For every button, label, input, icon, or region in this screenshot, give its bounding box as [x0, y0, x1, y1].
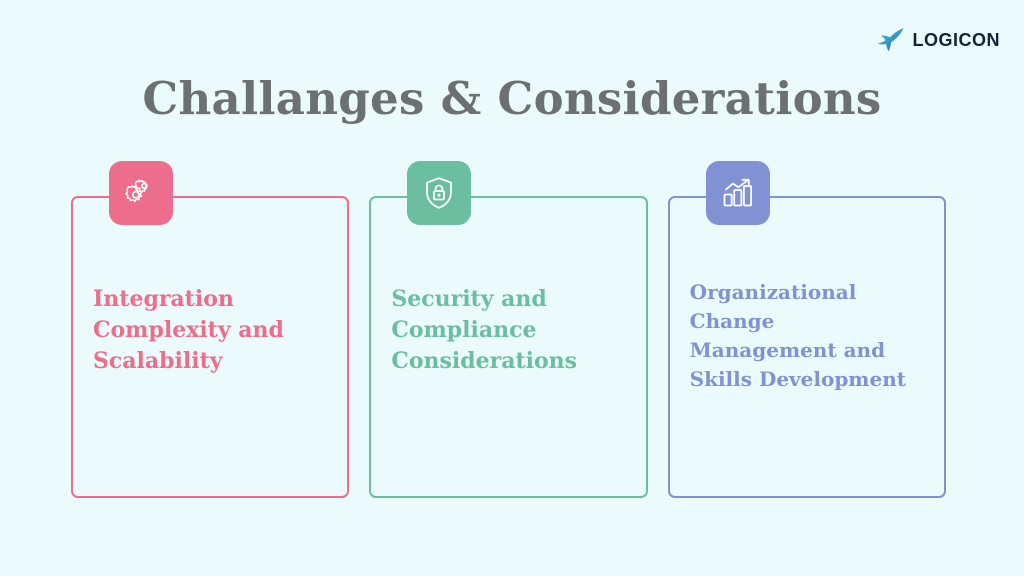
bird-mark-icon: [876, 27, 906, 53]
brand-name: LOGICON: [913, 31, 1001, 49]
shield-lock-icon: [423, 176, 455, 210]
cards-row: Integration Complexity and Scalability S…: [71, 196, 946, 498]
card-badge-3: [706, 161, 770, 225]
card-integration-complexity: Integration Complexity and Scalability: [71, 196, 349, 498]
page-title: Challanges & Considerations: [0, 74, 1024, 124]
card-title-2: Security and Compliance Considerations: [391, 284, 629, 378]
card-title-3: Organizational Change Management and Ski…: [690, 278, 928, 394]
card-badge-2: [407, 161, 471, 225]
card-badge-1: [109, 161, 173, 225]
bar-chart-growth-icon: [721, 177, 755, 209]
gears-icon: [124, 176, 158, 210]
card-security-compliance: Security and Compliance Considerations: [369, 196, 647, 498]
card-organizational-change: Organizational Change Management and Ski…: [668, 196, 946, 498]
brand-logo: LOGICON: [876, 27, 1001, 53]
card-title-1: Integration Complexity and Scalability: [93, 284, 331, 378]
